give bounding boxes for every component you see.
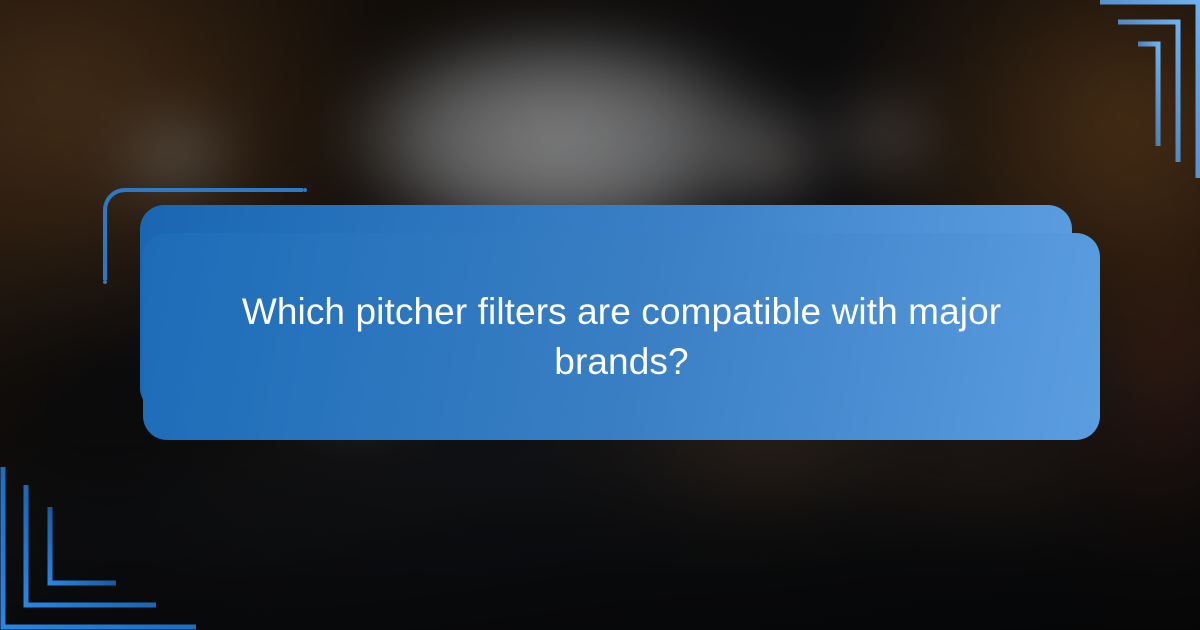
- corner-bracket-bottom-left-icon: [0, 445, 230, 630]
- question-title: Which pitcher filters are compatible wit…: [213, 287, 1030, 386]
- question-card-stack: Which pitcher filters are compatible wit…: [103, 188, 1103, 443]
- card-front-layer: Which pitcher filters are compatible wit…: [143, 233, 1100, 440]
- corner-bracket-top-right-icon: [1000, 0, 1200, 200]
- og-card-canvas: Which pitcher filters are compatible wit…: [0, 0, 1200, 630]
